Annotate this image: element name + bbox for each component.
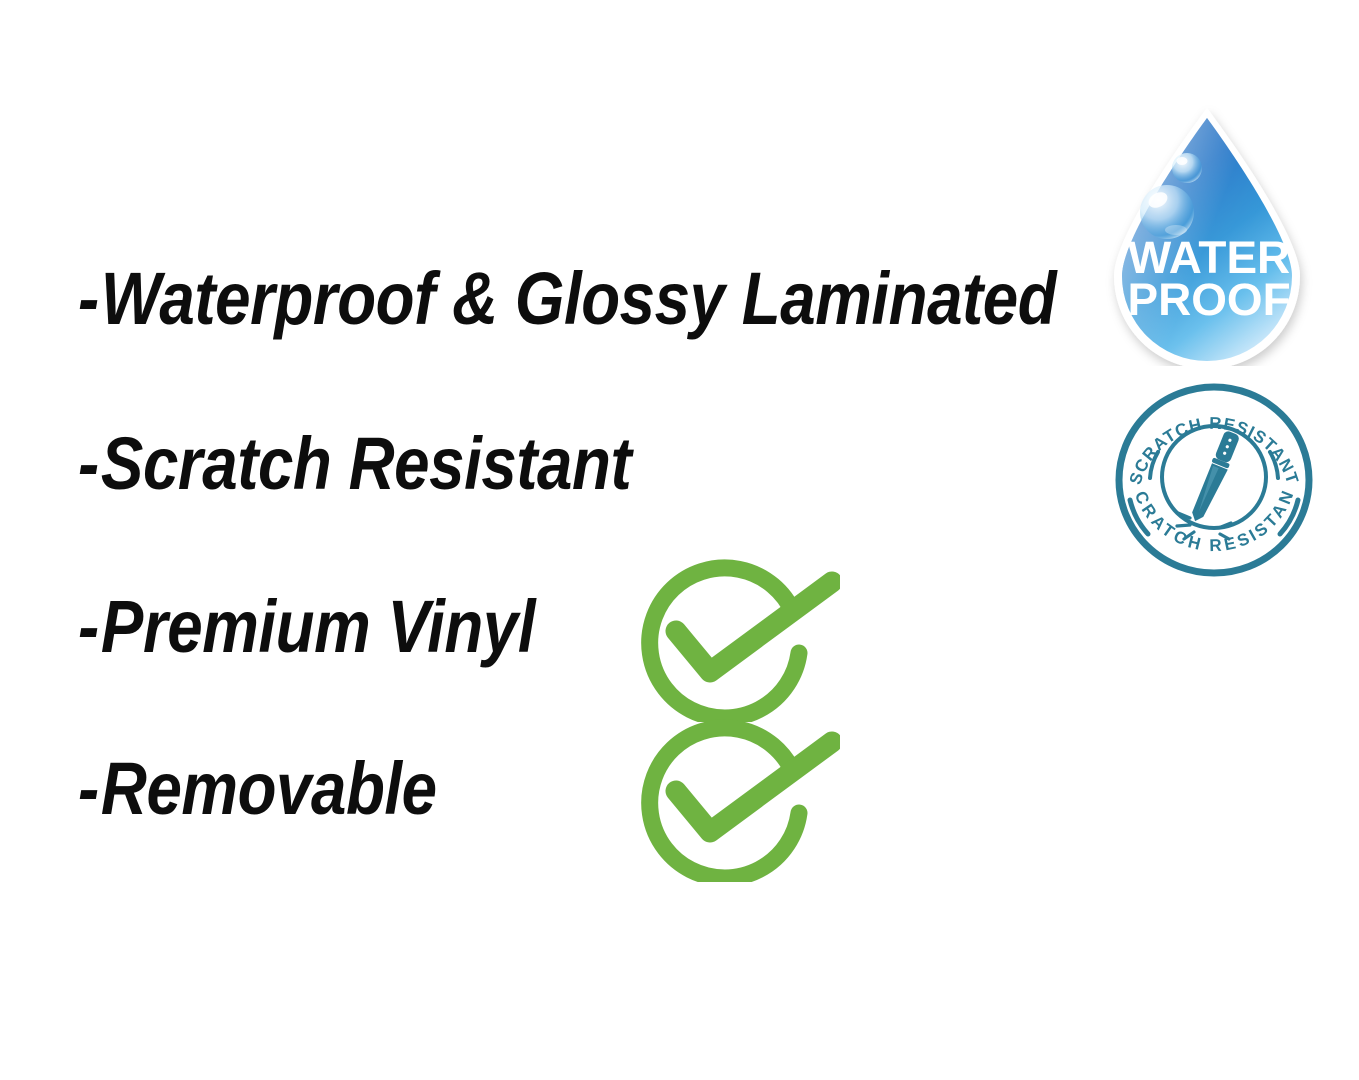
feature-item-waterproof-glossy-laminated: -Waterproof & Glossy Laminated	[78, 262, 1056, 336]
feature-item-scratch-resistant: -Scratch Resistant	[78, 427, 631, 501]
check-circle-ring	[650, 728, 799, 878]
feature-label: Scratch Resistant	[101, 422, 631, 505]
feature-label: Premium Vinyl	[101, 585, 535, 668]
knife-blade	[1190, 463, 1228, 525]
feature-label: Waterproof & Glossy Laminated	[101, 257, 1056, 340]
check-circle-ring	[650, 568, 799, 718]
feature-dash: -	[78, 585, 101, 668]
scratch-resistant-badge: SCRATCH RESISTANT SCRATCH RESISTANT	[1114, 382, 1314, 578]
check-mark	[676, 582, 832, 672]
knife-icon	[1189, 429, 1242, 525]
feature-list-graphic: -Waterproof & Glossy Laminated -Scratch …	[0, 0, 1359, 1080]
check-circle-removable	[640, 712, 840, 882]
bubble-highlight	[1177, 157, 1188, 165]
waterproof-line2: PROOF	[1127, 274, 1290, 324]
check-circle-icon	[640, 712, 840, 882]
feature-dash: -	[78, 257, 101, 340]
check-circle-icon	[640, 552, 840, 722]
check-mark	[676, 742, 832, 832]
feature-item-premium-vinyl: -Premium Vinyl	[78, 590, 535, 664]
water-bubble-small-icon	[1172, 153, 1202, 183]
waterproof-badge: WATER PROOF	[1104, 104, 1316, 366]
check-circle-premium-vinyl	[640, 552, 840, 722]
feature-item-removable: -Removable	[78, 752, 437, 826]
knife-seal-icon: SCRATCH RESISTANT SCRATCH RESISTANT	[1114, 382, 1314, 578]
feature-dash: -	[78, 747, 101, 830]
feature-label: Removable	[101, 747, 437, 830]
water-drop-icon: WATER PROOF	[1104, 104, 1316, 366]
feature-dash: -	[78, 422, 101, 505]
